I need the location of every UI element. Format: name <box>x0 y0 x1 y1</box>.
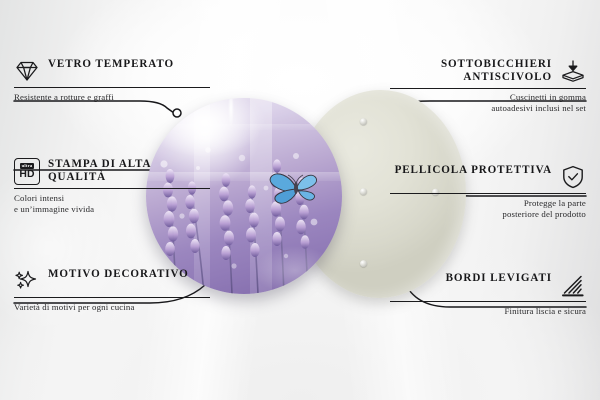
feature-title: STAMPA DI ALTA QUALITÀ <box>48 158 210 185</box>
feature-pellicola-protettiva: PELLICOLA PROTETTIVA Protegge la parte p… <box>390 164 586 220</box>
feature-divider <box>390 193 586 194</box>
rubber-foot <box>360 118 367 125</box>
feature-subtitle: Cuscinetti in gomma autoadesivi inclusi … <box>390 92 586 114</box>
feature-bordi-levigati: BORDI LEVIGATI Finitura liscia e sicura <box>390 272 586 317</box>
rubber-foot <box>360 260 367 267</box>
feature-title: MOTIVO DECORATIVO <box>48 268 189 281</box>
sparkles-icon <box>14 268 40 294</box>
feature-subtitle: Resistente a rotture e graffi <box>14 92 210 103</box>
feature-title: VETRO TEMPERATO <box>48 58 174 71</box>
feature-divider <box>14 87 210 88</box>
ultra-hd-badge-main: HD <box>19 170 34 180</box>
feature-title: PELLICOLA PROTETTIVA <box>395 164 552 177</box>
polished-edge-lines-icon <box>560 272 586 298</box>
feature-title: SOTTOBICCHIERI ANTISCIVOLO <box>390 58 552 85</box>
feature-subtitle: Finitura liscia e sicura <box>390 306 586 317</box>
shield-check-icon <box>560 164 586 190</box>
ultra-hd-badge-top: ultra <box>20 163 34 169</box>
feature-divider <box>14 297 210 298</box>
feature-subtitle: Colori intensi e un’immagine vivida <box>14 193 210 215</box>
feature-vetro-temperato: VETRO TEMPERATO Resistente a rotture e g… <box>14 58 210 103</box>
feature-stampa-alta-qualita: ultra HD STAMPA DI ALTA QUALITÀ Colori i… <box>14 158 210 215</box>
feature-motivo-decorativo: MOTIVO DECORATIVO Varietà di motivi per … <box>14 268 210 313</box>
ultra-hd-badge-icon: ultra HD <box>14 158 40 185</box>
feature-title: BORDI LEVIGATI <box>446 272 552 285</box>
feature-subtitle: Varietà di motivi per ogni cucina <box>14 302 210 313</box>
feature-subtitle: Protegge la parte posteriore del prodott… <box>390 198 586 220</box>
rubber-foot <box>360 188 367 195</box>
press-down-pad-icon <box>560 58 586 84</box>
infographic-canvas: VETRO TEMPERATO Resistente a rotture e g… <box>0 0 600 400</box>
feature-sottobicchieri-antiscivolo: SOTTOBICCHIERI ANTISCIVOLO Cuscinetti in… <box>390 58 586 114</box>
feature-divider <box>390 301 586 302</box>
feature-divider <box>390 88 586 89</box>
diamond-icon <box>14 58 40 84</box>
feature-divider <box>14 188 210 189</box>
